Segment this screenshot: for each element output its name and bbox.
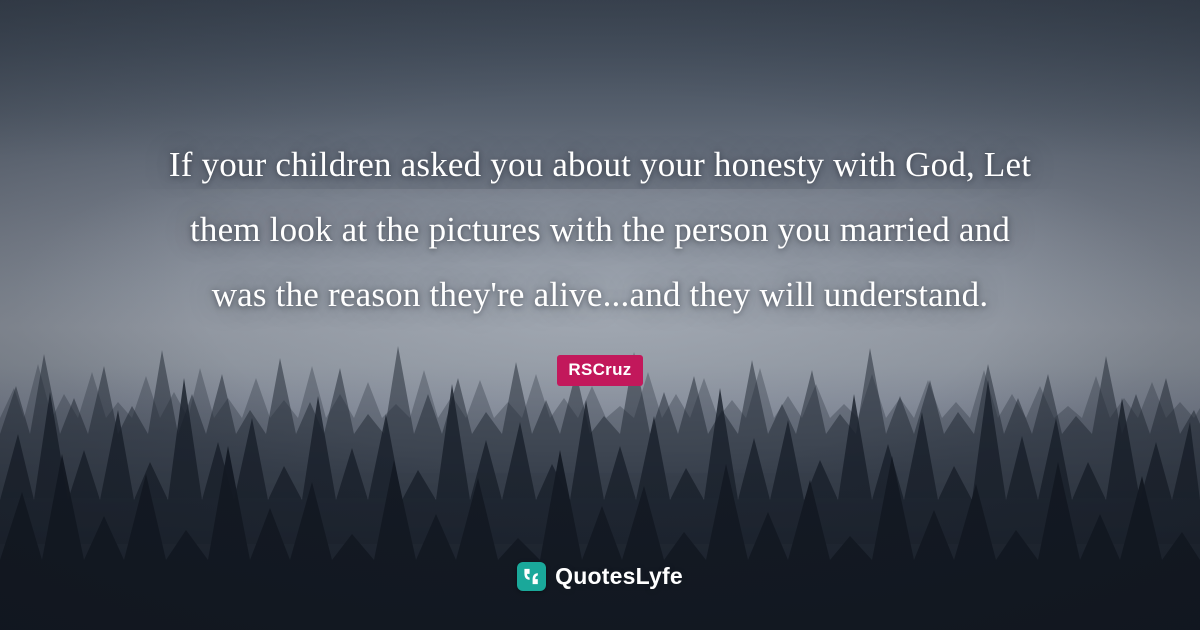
brand-logo[interactable]: QuotesLyfe xyxy=(0,562,1200,591)
quote-mark-icon xyxy=(517,562,546,591)
quote-content: If your children asked you about your ho… xyxy=(0,0,1200,630)
quote-text: If your children asked you about your ho… xyxy=(160,132,1040,327)
quote-author-badge[interactable]: RSCruz xyxy=(557,355,642,386)
quote-author-container: RSCruz xyxy=(557,355,642,386)
brand-name: QuotesLyfe xyxy=(555,563,683,590)
quote-card: If your children asked you about your ho… xyxy=(0,0,1200,630)
